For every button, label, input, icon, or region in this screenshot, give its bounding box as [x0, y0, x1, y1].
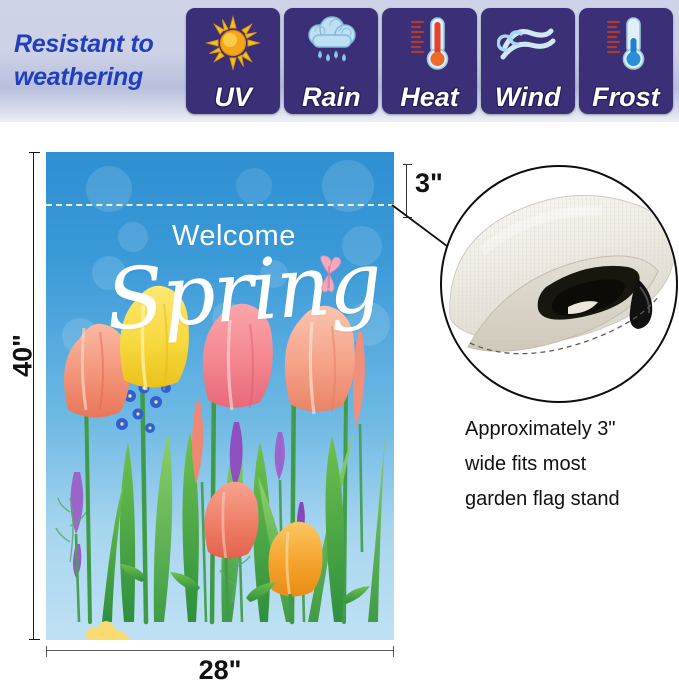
badge-uv: UV: [186, 8, 280, 114]
badge-label-rain: Rain: [302, 82, 361, 112]
tulip-peach: [285, 306, 355, 414]
badge-label-wind: Wind: [495, 82, 561, 112]
tulip-pink: [203, 304, 273, 410]
sleeve-desc-line3: garden flag stand: [465, 482, 679, 517]
banner-title: Resistant to weathering: [14, 16, 182, 106]
weather-badge-row: UV: [186, 8, 673, 114]
height-dimension-label: 40": [8, 326, 39, 386]
badge-label-heat: Heat: [400, 82, 459, 112]
badge-heat: Heat: [382, 8, 476, 114]
sleeve-desc-line1: Approximately 3": [465, 412, 679, 447]
badge-frost: Frost: [579, 8, 673, 114]
sleeve-detail-callout: [440, 165, 678, 403]
badge-label-frost: Frost: [592, 82, 660, 112]
wind-waves-icon: [481, 14, 575, 72]
badge-rain: Rain: [284, 8, 378, 114]
cold-thermometer-icon: [579, 14, 673, 72]
flower-illustration: [46, 152, 394, 640]
width-dimension-label: 28": [46, 655, 394, 686]
height-dimension-line: [33, 152, 34, 640]
sleeve-desc-line2: wide fits most: [465, 447, 679, 482]
badge-wind: Wind: [481, 8, 575, 114]
tulip-yellow: [120, 286, 189, 390]
garden-flag-image: [46, 152, 394, 640]
tulip-salmon: [64, 324, 130, 418]
sleeve-stitch-line: [46, 204, 394, 206]
sun-icon: [186, 14, 280, 72]
weathering-banner: Resistant to weathering: [0, 0, 679, 122]
rain-cloud-icon: [284, 14, 378, 72]
sleeve-description: Approximately 3" wide fits most garden f…: [465, 412, 679, 517]
badge-label-uv: UV: [214, 82, 252, 112]
banner-title-line1: Resistant to: [14, 28, 182, 61]
hot-thermometer-icon: [382, 14, 476, 72]
width-dimension-line: [46, 650, 394, 651]
flag-sleeve-photo: [442, 167, 676, 401]
banner-title-line2: weathering: [14, 61, 182, 94]
